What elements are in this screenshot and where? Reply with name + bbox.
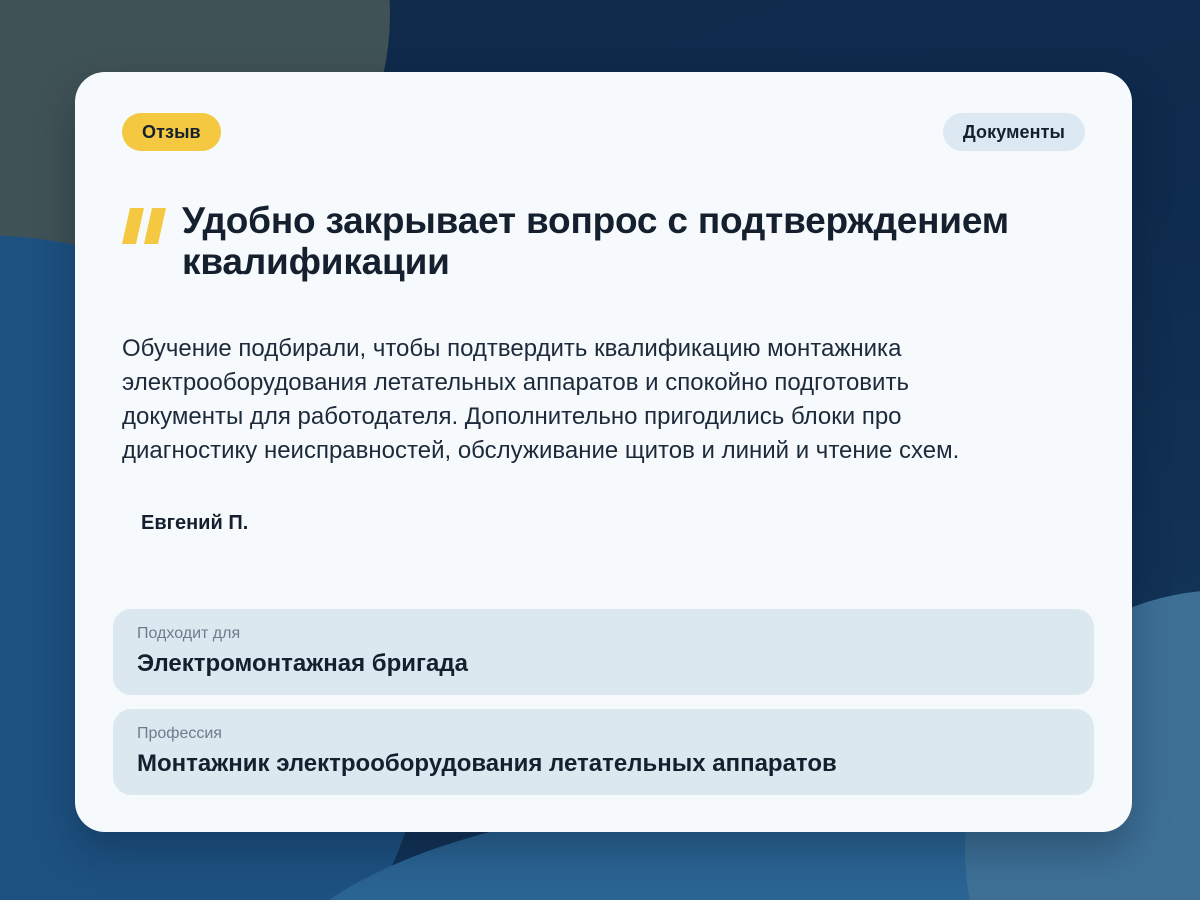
info-card-label: Профессия — [137, 724, 1070, 745]
info-card-profession: Профессия Монтажник электрооборудования … — [113, 709, 1094, 795]
page-title: Удобно закрывает вопрос с подтверждением… — [182, 200, 1012, 283]
info-card-value: Электромонтажная бригада — [137, 650, 1070, 678]
documents-category-badge[interactable]: Документы — [943, 113, 1085, 151]
card-header: Отзыв Документы — [122, 112, 1085, 152]
testimonial-card: Отзыв Документы Удобно закрывает вопрос … — [75, 72, 1132, 832]
info-card-list: Подходит для Электромонтажная бригада Пр… — [113, 609, 1094, 809]
review-tag-badge[interactable]: Отзыв — [122, 113, 221, 151]
quote-heading-row: Удобно закрывает вопрос с подтверждением… — [122, 200, 1085, 283]
testimonial-slide: Отзыв Документы Удобно закрывает вопрос … — [0, 0, 1200, 900]
review-author-name: Евгений П. — [141, 512, 1085, 535]
info-card-suitable-for: Подходит для Электромонтажная бригада — [113, 609, 1094, 695]
info-card-value: Монтажник электрооборудования летательны… — [137, 750, 1070, 778]
info-card-label: Подходит для — [137, 624, 1070, 645]
review-body-text: Обучение подбирали, чтобы подтвердить кв… — [122, 332, 1022, 468]
quote-mark-icon — [122, 208, 168, 244]
